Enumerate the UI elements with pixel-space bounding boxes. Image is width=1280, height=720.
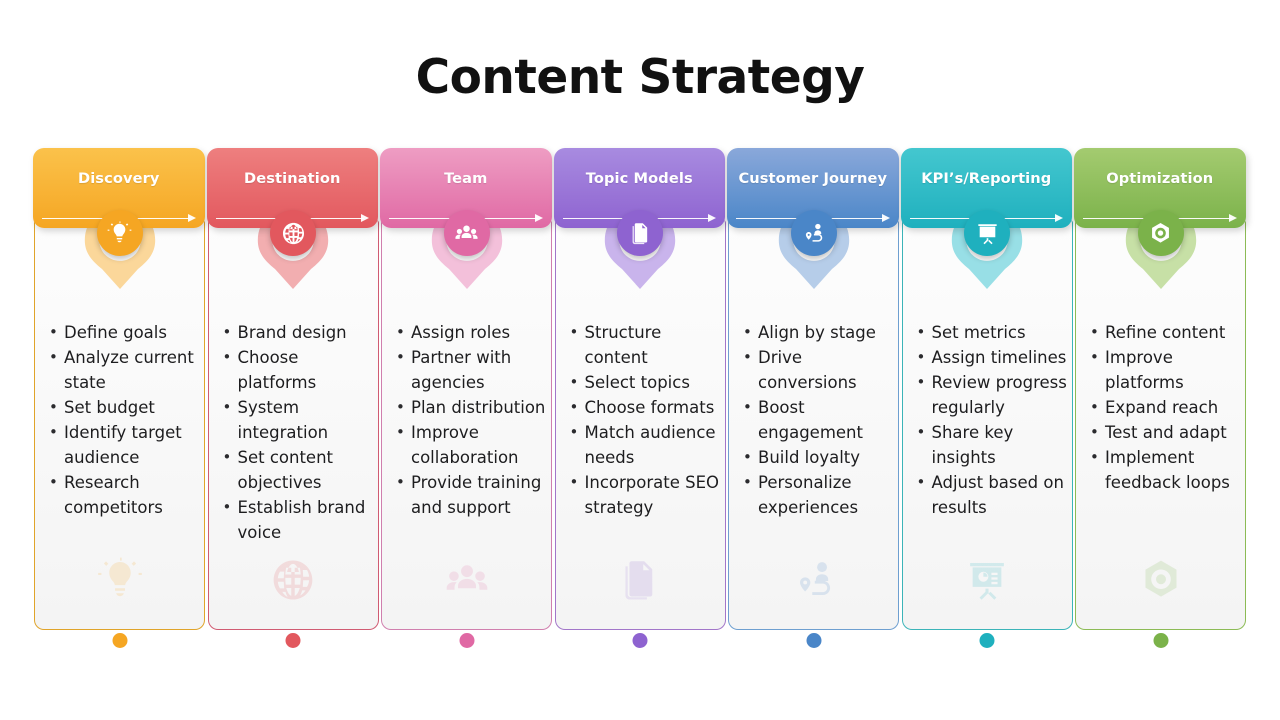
bullet-item: Choose formats xyxy=(564,395,722,420)
strategy-column: Define goalsAnalyze current stateSet bud… xyxy=(33,148,207,640)
bullet-item: Partner with agencies xyxy=(390,345,548,395)
strategy-column: Set metricsAssign timelinesReview progre… xyxy=(901,148,1075,640)
bullet-item: Select topics xyxy=(564,370,722,395)
column-title: Optimization xyxy=(1074,170,1246,187)
bullet-list: Assign rolesPartner with agenciesPlan di… xyxy=(390,320,548,520)
bullet-item: Brand design xyxy=(217,320,375,345)
globe-icon-badge[interactable] xyxy=(270,210,316,256)
column-dot-marker xyxy=(1153,633,1168,648)
bullet-item: Structure content xyxy=(564,320,722,370)
people-icon-badge[interactable] xyxy=(444,210,490,256)
page-title: Content Strategy xyxy=(0,50,1280,105)
column-title: Team xyxy=(380,170,552,187)
bullet-list: Align by stageDrive conversionsBoost eng… xyxy=(737,320,895,520)
globe-icon-watermark xyxy=(270,557,316,603)
bullet-item: Test and adapt xyxy=(1084,420,1242,445)
lightbulb-icon-badge[interactable] xyxy=(97,210,143,256)
presentation-chart-icon-watermark xyxy=(964,557,1010,603)
people-icon-watermark xyxy=(444,557,490,603)
bullet-list: Refine contentImprove platformsExpand re… xyxy=(1084,320,1242,495)
bullet-item: Identify target audience xyxy=(43,420,201,470)
lightbulb-icon-watermark xyxy=(97,557,143,603)
bullet-item: Personalize experiences xyxy=(737,470,895,520)
documents-icon-watermark xyxy=(617,557,663,603)
bullet-item: Assign roles xyxy=(390,320,548,345)
bullet-item: Establish brand voice xyxy=(217,495,375,545)
strategy-column: Assign rolesPartner with agenciesPlan di… xyxy=(380,148,554,640)
bullet-item: Match audience needs xyxy=(564,420,722,470)
slide: Content Strategy Define goalsAnalyze cur… xyxy=(0,0,1280,720)
column-dot-marker xyxy=(633,633,648,648)
columns-container: Define goalsAnalyze current stateSet bud… xyxy=(33,148,1247,640)
bullet-item: Set budget xyxy=(43,395,201,420)
column-dot-marker xyxy=(286,633,301,648)
bullet-item: Improve collaboration xyxy=(390,420,548,470)
bullet-item: Analyze current state xyxy=(43,345,201,395)
bullet-item: Implement feedback loops xyxy=(1084,445,1242,495)
strategy-column: Refine contentImprove platformsExpand re… xyxy=(1074,148,1248,640)
bullet-item: Expand reach xyxy=(1084,395,1242,420)
bullet-item: Improve platforms xyxy=(1084,345,1242,395)
bullet-item: Share key insights xyxy=(911,420,1069,470)
bullet-item: Build loyalty xyxy=(737,445,895,470)
gear-hex-icon-badge[interactable] xyxy=(1138,210,1184,256)
column-title: Discovery xyxy=(33,170,205,187)
bullet-item: Drive conversions xyxy=(737,345,895,395)
bullet-item: Define goals xyxy=(43,320,201,345)
bullet-item: Assign timelines xyxy=(911,345,1069,370)
column-title: Topic Models xyxy=(554,170,726,187)
strategy-column: Brand designChoose platformsSystem integ… xyxy=(207,148,381,640)
bullet-item: Plan distribution xyxy=(390,395,548,420)
bullet-item: Research competitors xyxy=(43,470,201,520)
bullet-list: Set metricsAssign timelinesReview progre… xyxy=(911,320,1069,520)
bullet-item: Set content objectives xyxy=(217,445,375,495)
bullet-list: Structure contentSelect topicsChoose for… xyxy=(564,320,722,520)
bullet-item: Incorporate SEO strategy xyxy=(564,470,722,520)
bullet-list: Brand designChoose platformsSystem integ… xyxy=(217,320,375,545)
column-title: Customer Journey xyxy=(727,170,899,187)
strategy-column: Structure contentSelect topicsChoose for… xyxy=(554,148,728,640)
bullet-item: Review progress regularly xyxy=(911,370,1069,420)
bullet-list: Define goalsAnalyze current stateSet bud… xyxy=(43,320,201,520)
column-dot-marker xyxy=(459,633,474,648)
column-dot-marker xyxy=(980,633,995,648)
strategy-column: Align by stageDrive conversionsBoost eng… xyxy=(727,148,901,640)
bullet-item: Choose platforms xyxy=(217,345,375,395)
bullet-item: Set metrics xyxy=(911,320,1069,345)
bullet-item: Boost engagement xyxy=(737,395,895,445)
bullet-item: Provide training and support xyxy=(390,470,548,520)
documents-icon-badge[interactable] xyxy=(617,210,663,256)
column-title: Destination xyxy=(207,170,379,187)
column-dot-marker xyxy=(112,633,127,648)
bullet-item: System integration xyxy=(217,395,375,445)
bullet-item: Adjust based on results xyxy=(911,470,1069,520)
presentation-chart-icon-badge[interactable] xyxy=(964,210,1010,256)
bullet-item: Refine content xyxy=(1084,320,1242,345)
journey-icon-badge[interactable] xyxy=(791,210,837,256)
column-dot-marker xyxy=(806,633,821,648)
bullet-item: Align by stage xyxy=(737,320,895,345)
journey-icon-watermark xyxy=(791,557,837,603)
gear-hex-icon-watermark xyxy=(1138,557,1184,603)
column-title: KPI’s/Reporting xyxy=(901,170,1073,187)
